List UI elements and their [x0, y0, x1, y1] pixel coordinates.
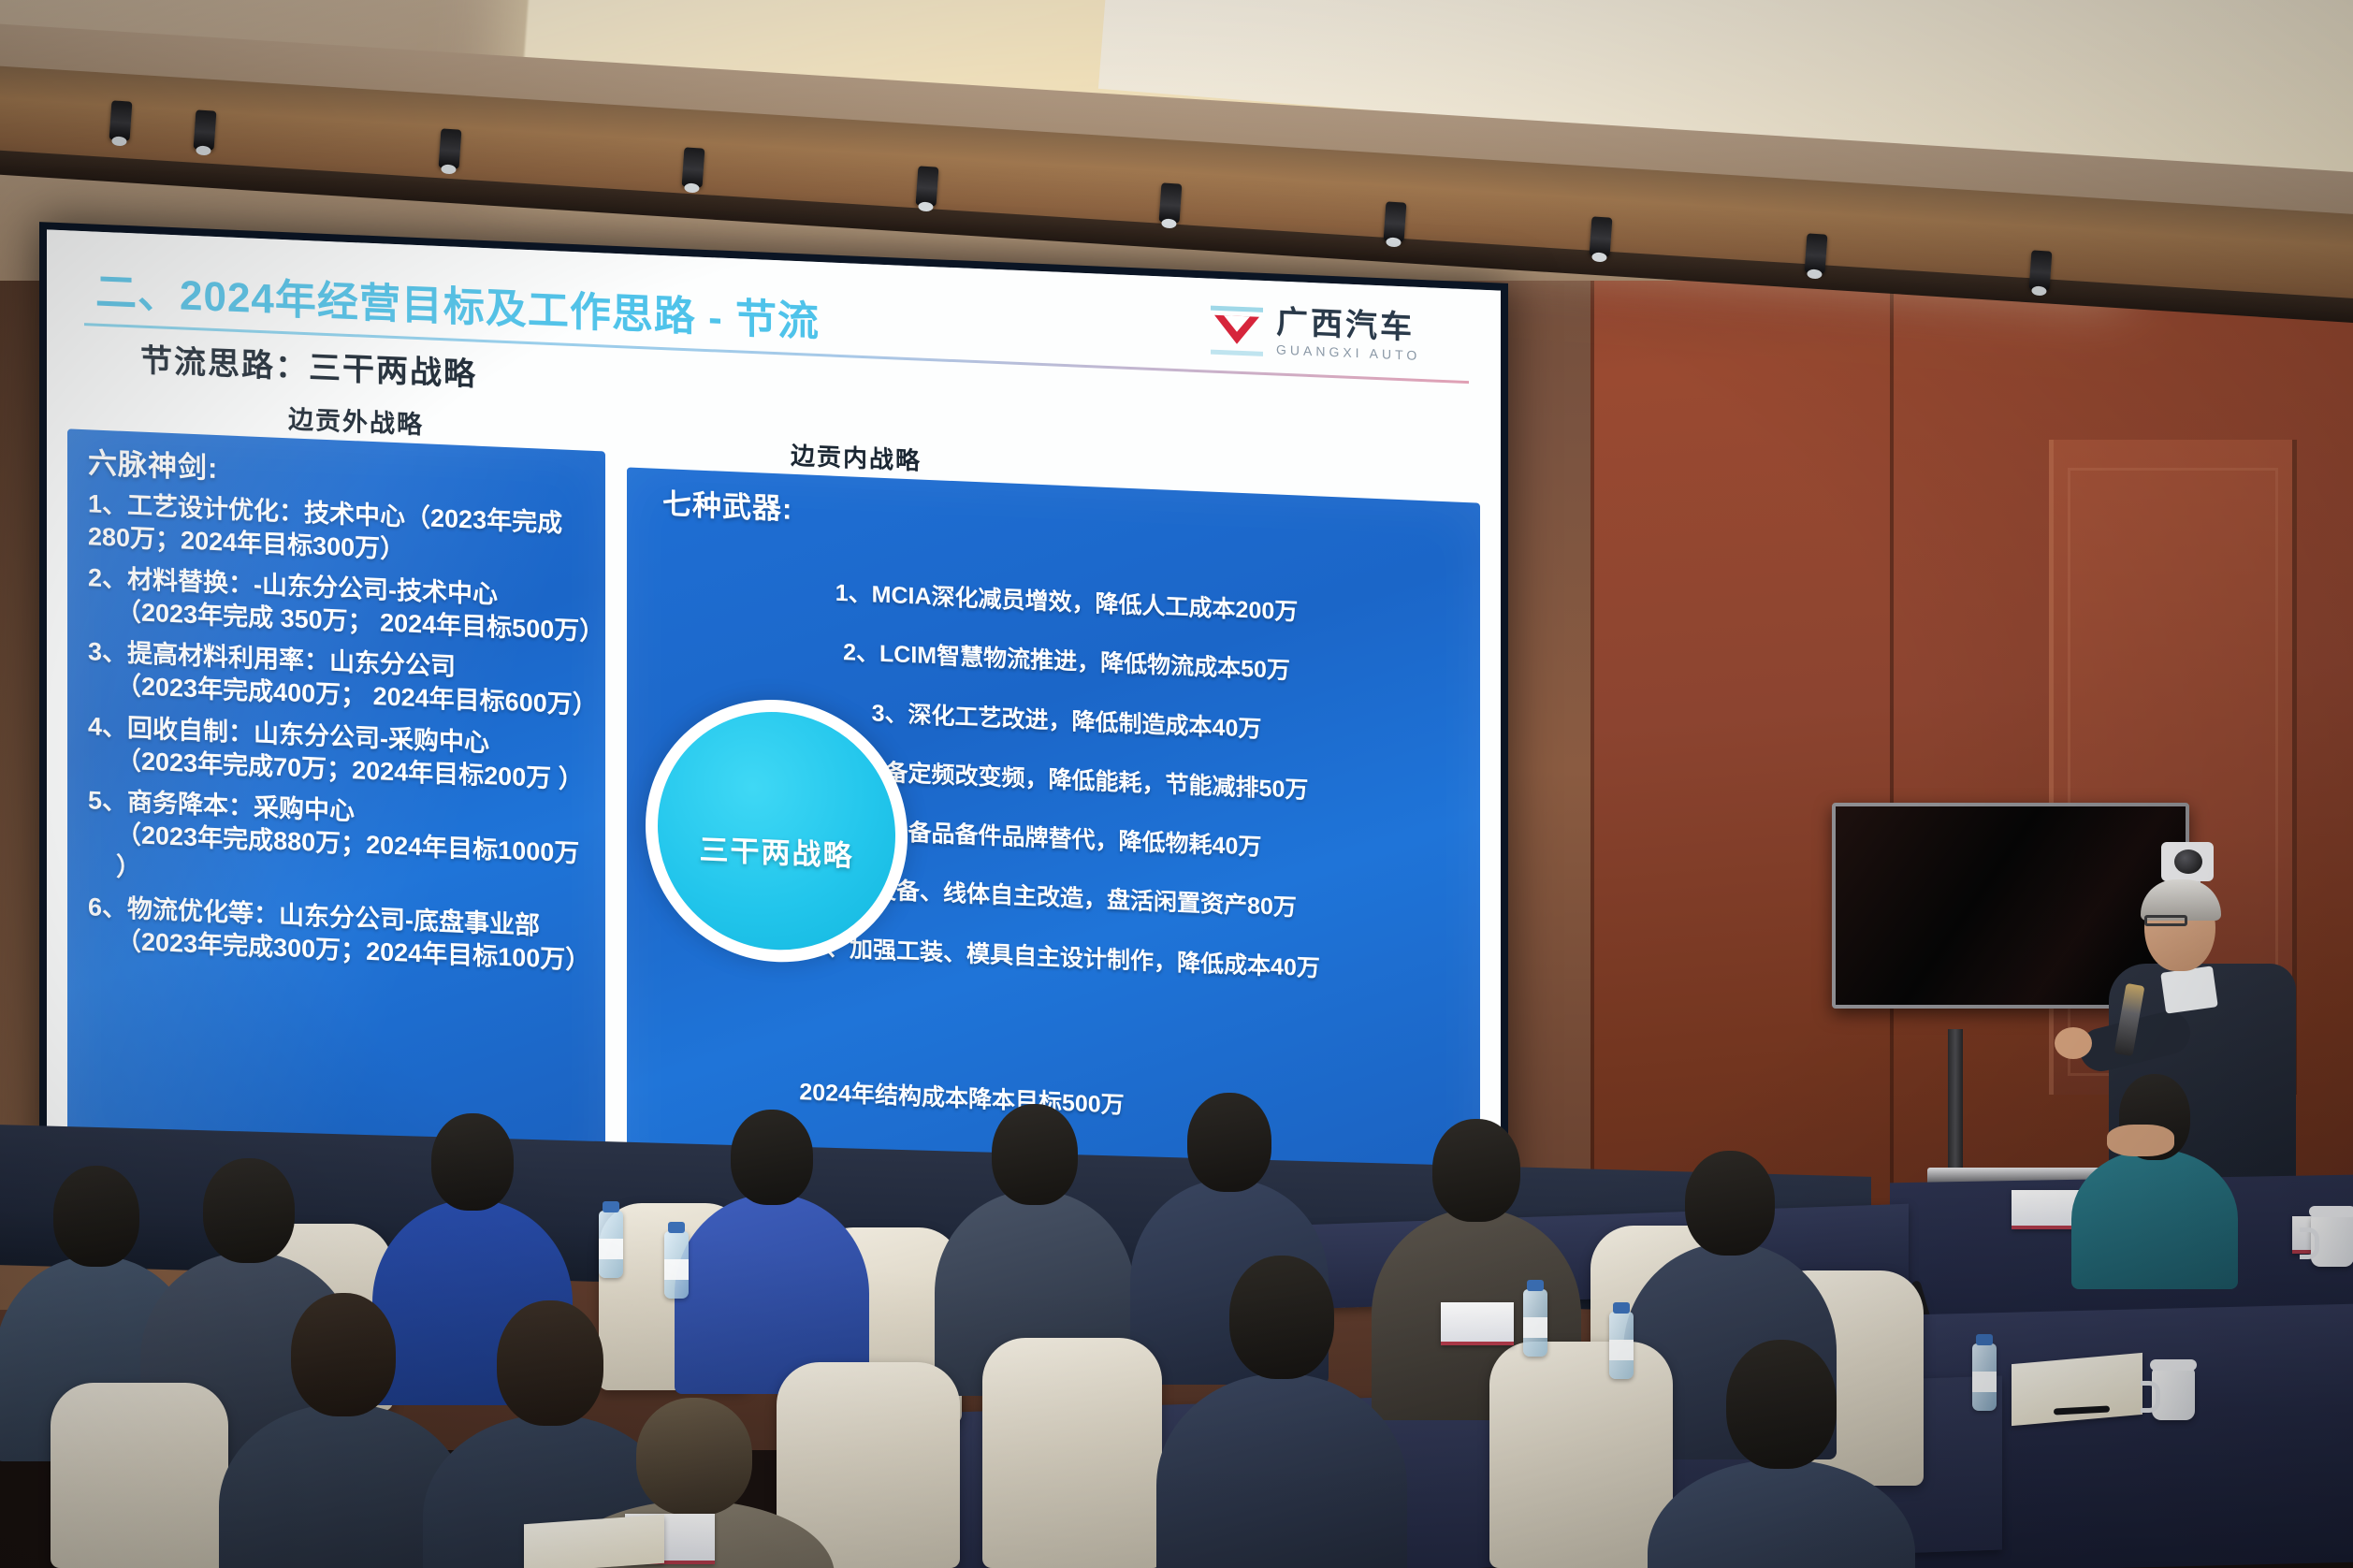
- spotlight-icon: [439, 128, 462, 168]
- conference-room-scene: 二、2024年经营目标及工作思路 - 节流 广西汽车 GUANGXI AUTO …: [0, 0, 2353, 1568]
- spotlight-icon: [916, 166, 939, 206]
- seated-person: [2084, 1074, 2225, 1242]
- audience-member: [694, 1110, 850, 1381]
- notepad: [524, 1515, 664, 1568]
- list-item: 1、MCIA深化减员增效，降低人工成本200万: [664, 572, 1469, 634]
- spotlight-icon: [109, 100, 133, 140]
- spotlight-icon: [2029, 250, 2053, 290]
- chair: [51, 1383, 228, 1568]
- presentation-slide: 二、2024年经营目标及工作思路 - 节流 广西汽车 GUANGXI AUTO …: [47, 229, 1501, 1229]
- water-bottle: [599, 1211, 623, 1278]
- slide-title: 二、2024年经营目标及工作思路 - 节流: [95, 258, 820, 348]
- left-panel-list: 1、工艺设计优化：技术中心（2023年完成280万；2024年目标300万） 2…: [88, 487, 598, 986]
- water-bottle: [1609, 1312, 1634, 1379]
- left-panel-heading: 六脉神剑:: [88, 439, 218, 486]
- audience-member: [245, 1293, 442, 1568]
- logo-chinese-text: 广西汽车: [1276, 307, 1420, 344]
- left-panel: 六脉神剑: 1、工艺设计优化：技术中心（2023年完成280万；2024年目标3…: [67, 428, 605, 1190]
- chair: [1489, 1342, 1673, 1568]
- audience-member: [1183, 1256, 1381, 1568]
- water-bottle: [664, 1231, 689, 1299]
- audience-member: [1675, 1340, 1888, 1568]
- right-panel-heading: 七种武器:: [662, 480, 792, 528]
- tea-mug: [2311, 1214, 2353, 1267]
- spotlight-icon: [194, 109, 217, 150]
- water-bottle: [1972, 1343, 1997, 1411]
- water-bottle: [1523, 1289, 1547, 1357]
- name-card: [2012, 1190, 2079, 1229]
- spotlight-icon: [1805, 233, 1828, 273]
- left-strategy-label: 边贡外战略: [288, 399, 424, 441]
- list-item: 5、商务降本：采购中心 （2023年完成880万；2024年目标1000万 ）: [88, 784, 598, 904]
- projection-surface: 二、2024年经营目标及工作思路 - 节流 广西汽车 GUANGXI AUTO …: [47, 229, 1501, 1229]
- tea-mug: [2152, 1368, 2195, 1420]
- notepad: [2012, 1353, 2142, 1426]
- list-item: 4、回收自制：山东分公司-采购中心 （2023年完成70万；2024年目标200…: [88, 710, 598, 797]
- camera-lens-icon: [2174, 849, 2202, 874]
- ptz-camera-icon: [2161, 842, 2214, 881]
- list-item: 3、提高材料利用率：山东分公司 （2023年完成400万； 2024年目标600…: [88, 636, 598, 723]
- spotlight-icon: [682, 147, 705, 187]
- right-strategy-label: 边贡内战略: [791, 437, 922, 477]
- list-item: 2、材料替换：-山东分公司-技术中心 （2023年完成 350万； 2024年目…: [88, 561, 598, 648]
- projection-screen: 二、2024年经营目标及工作思路 - 节流 广西汽车 GUANGXI AUTO …: [39, 222, 1508, 1238]
- chair: [982, 1338, 1162, 1568]
- name-card: [1441, 1302, 1514, 1345]
- slide-subtitle: 节流思路：三干两战略: [140, 335, 477, 395]
- spotlight-icon: [1384, 201, 1407, 241]
- list-item: 1、工艺设计优化：技术中心（2023年完成280万；2024年目标300万）: [88, 487, 598, 574]
- glasses-icon: [2144, 915, 2187, 926]
- company-logo: 广西汽车 GUANGXI AUTO: [1207, 291, 1450, 376]
- spotlight-icon: [1159, 182, 1183, 223]
- spotlight-icon: [1590, 216, 1613, 256]
- center-circle-label: 三干两战略: [700, 825, 854, 874]
- guangxi-auto-emblem-icon: [1207, 301, 1267, 358]
- list-item: 2、LCIM智慧物流推进，降低物流成本50万: [664, 631, 1469, 693]
- list-item: 6、物流优化等：山东分公司-底盘事业部 （2023年完成300万；2024年目标…: [88, 891, 598, 978]
